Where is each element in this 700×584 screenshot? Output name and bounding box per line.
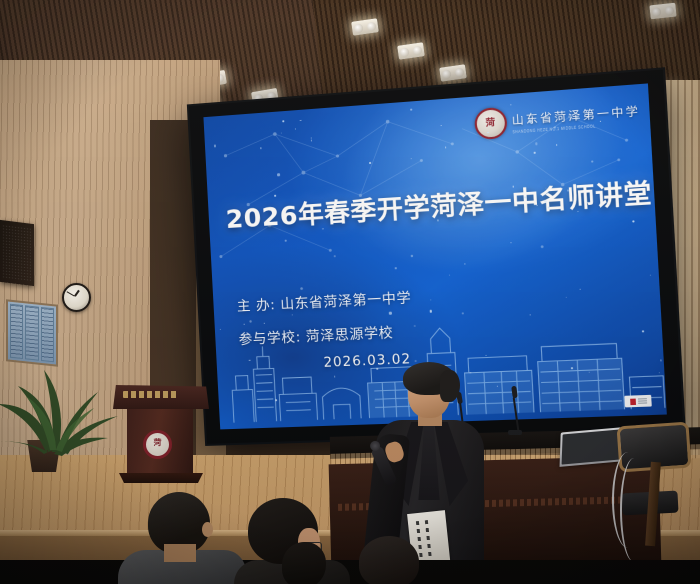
wall-clock-icon xyxy=(62,283,91,312)
audience-neck xyxy=(164,544,196,562)
screen-particle xyxy=(570,367,573,370)
speaker-hair-side xyxy=(440,370,460,402)
screen-particle xyxy=(660,360,662,362)
lecture-hall-photo: 菏 山东省菏泽第一中学 SHANDONG HEZE NO.1 MIDDLE SC… xyxy=(0,0,700,584)
screen-particle xyxy=(659,372,660,373)
screen-particle xyxy=(544,200,547,203)
screen-particle xyxy=(389,312,392,314)
loudspeaker-grille xyxy=(2,224,31,282)
screen-particle xyxy=(300,120,301,121)
screen-particle xyxy=(369,162,371,164)
ceiling-spotlight-icon xyxy=(649,3,676,20)
podium-emblem-character: 菏 xyxy=(146,437,169,448)
screen-particle xyxy=(567,189,569,191)
audience-member-front-center xyxy=(230,498,342,584)
potted-palm-icon xyxy=(0,352,124,457)
screen-particle xyxy=(411,158,412,159)
screen-particle xyxy=(440,125,441,126)
screen-particle xyxy=(576,117,579,120)
screen-particle xyxy=(512,186,513,187)
screen-particle xyxy=(650,274,651,275)
screen-particle xyxy=(535,143,538,146)
podium-wordmark xyxy=(123,391,179,398)
gooseneck-microphone-icon xyxy=(505,386,525,438)
broadcast-badge-icon xyxy=(625,395,652,408)
audience-ponytail xyxy=(282,542,326,584)
screen-particle xyxy=(600,121,601,122)
screen-particle xyxy=(556,144,557,145)
screen-particle xyxy=(220,329,221,330)
screen-particle xyxy=(547,206,550,209)
screen-particle xyxy=(536,205,537,206)
audience-member-front-left xyxy=(118,492,238,584)
seal-character: 菏 xyxy=(485,119,495,129)
screen-particle xyxy=(395,268,396,269)
laptop-icon[interactable] xyxy=(560,427,623,467)
notice-panel xyxy=(10,304,23,359)
screen-particle xyxy=(322,228,323,229)
screen-particle xyxy=(214,145,216,147)
power-cable xyxy=(620,458,648,562)
school-seal-icon: 菏 xyxy=(474,107,508,140)
screen-particle xyxy=(511,242,512,243)
screen-particle xyxy=(285,240,287,242)
screen-particle xyxy=(414,324,416,326)
screen-particle xyxy=(485,355,486,356)
podium-emblem-icon: 菏 xyxy=(143,430,172,459)
screen-particle xyxy=(275,399,277,401)
screen-particle xyxy=(529,120,532,123)
screen-particle xyxy=(310,138,311,139)
audience-ear xyxy=(202,522,213,537)
podium-base xyxy=(119,473,203,483)
screen-particle xyxy=(264,323,265,324)
screen-particle xyxy=(295,128,296,129)
screen-particle xyxy=(282,120,284,122)
screen-particle xyxy=(277,174,279,176)
screen-particle xyxy=(588,371,589,372)
screen-particle xyxy=(430,299,431,300)
screen-particle xyxy=(529,314,530,315)
screen-particle xyxy=(591,160,593,162)
audience-head xyxy=(359,536,419,584)
screen-particle xyxy=(632,220,635,222)
screen-particle xyxy=(281,132,282,133)
screen-particle xyxy=(642,330,644,332)
lectern-podium: 菏 xyxy=(113,385,209,485)
audience-member-front-right xyxy=(345,536,441,584)
screen-particle xyxy=(577,211,578,212)
screen-particle xyxy=(311,140,312,142)
screen-particle xyxy=(554,126,556,128)
